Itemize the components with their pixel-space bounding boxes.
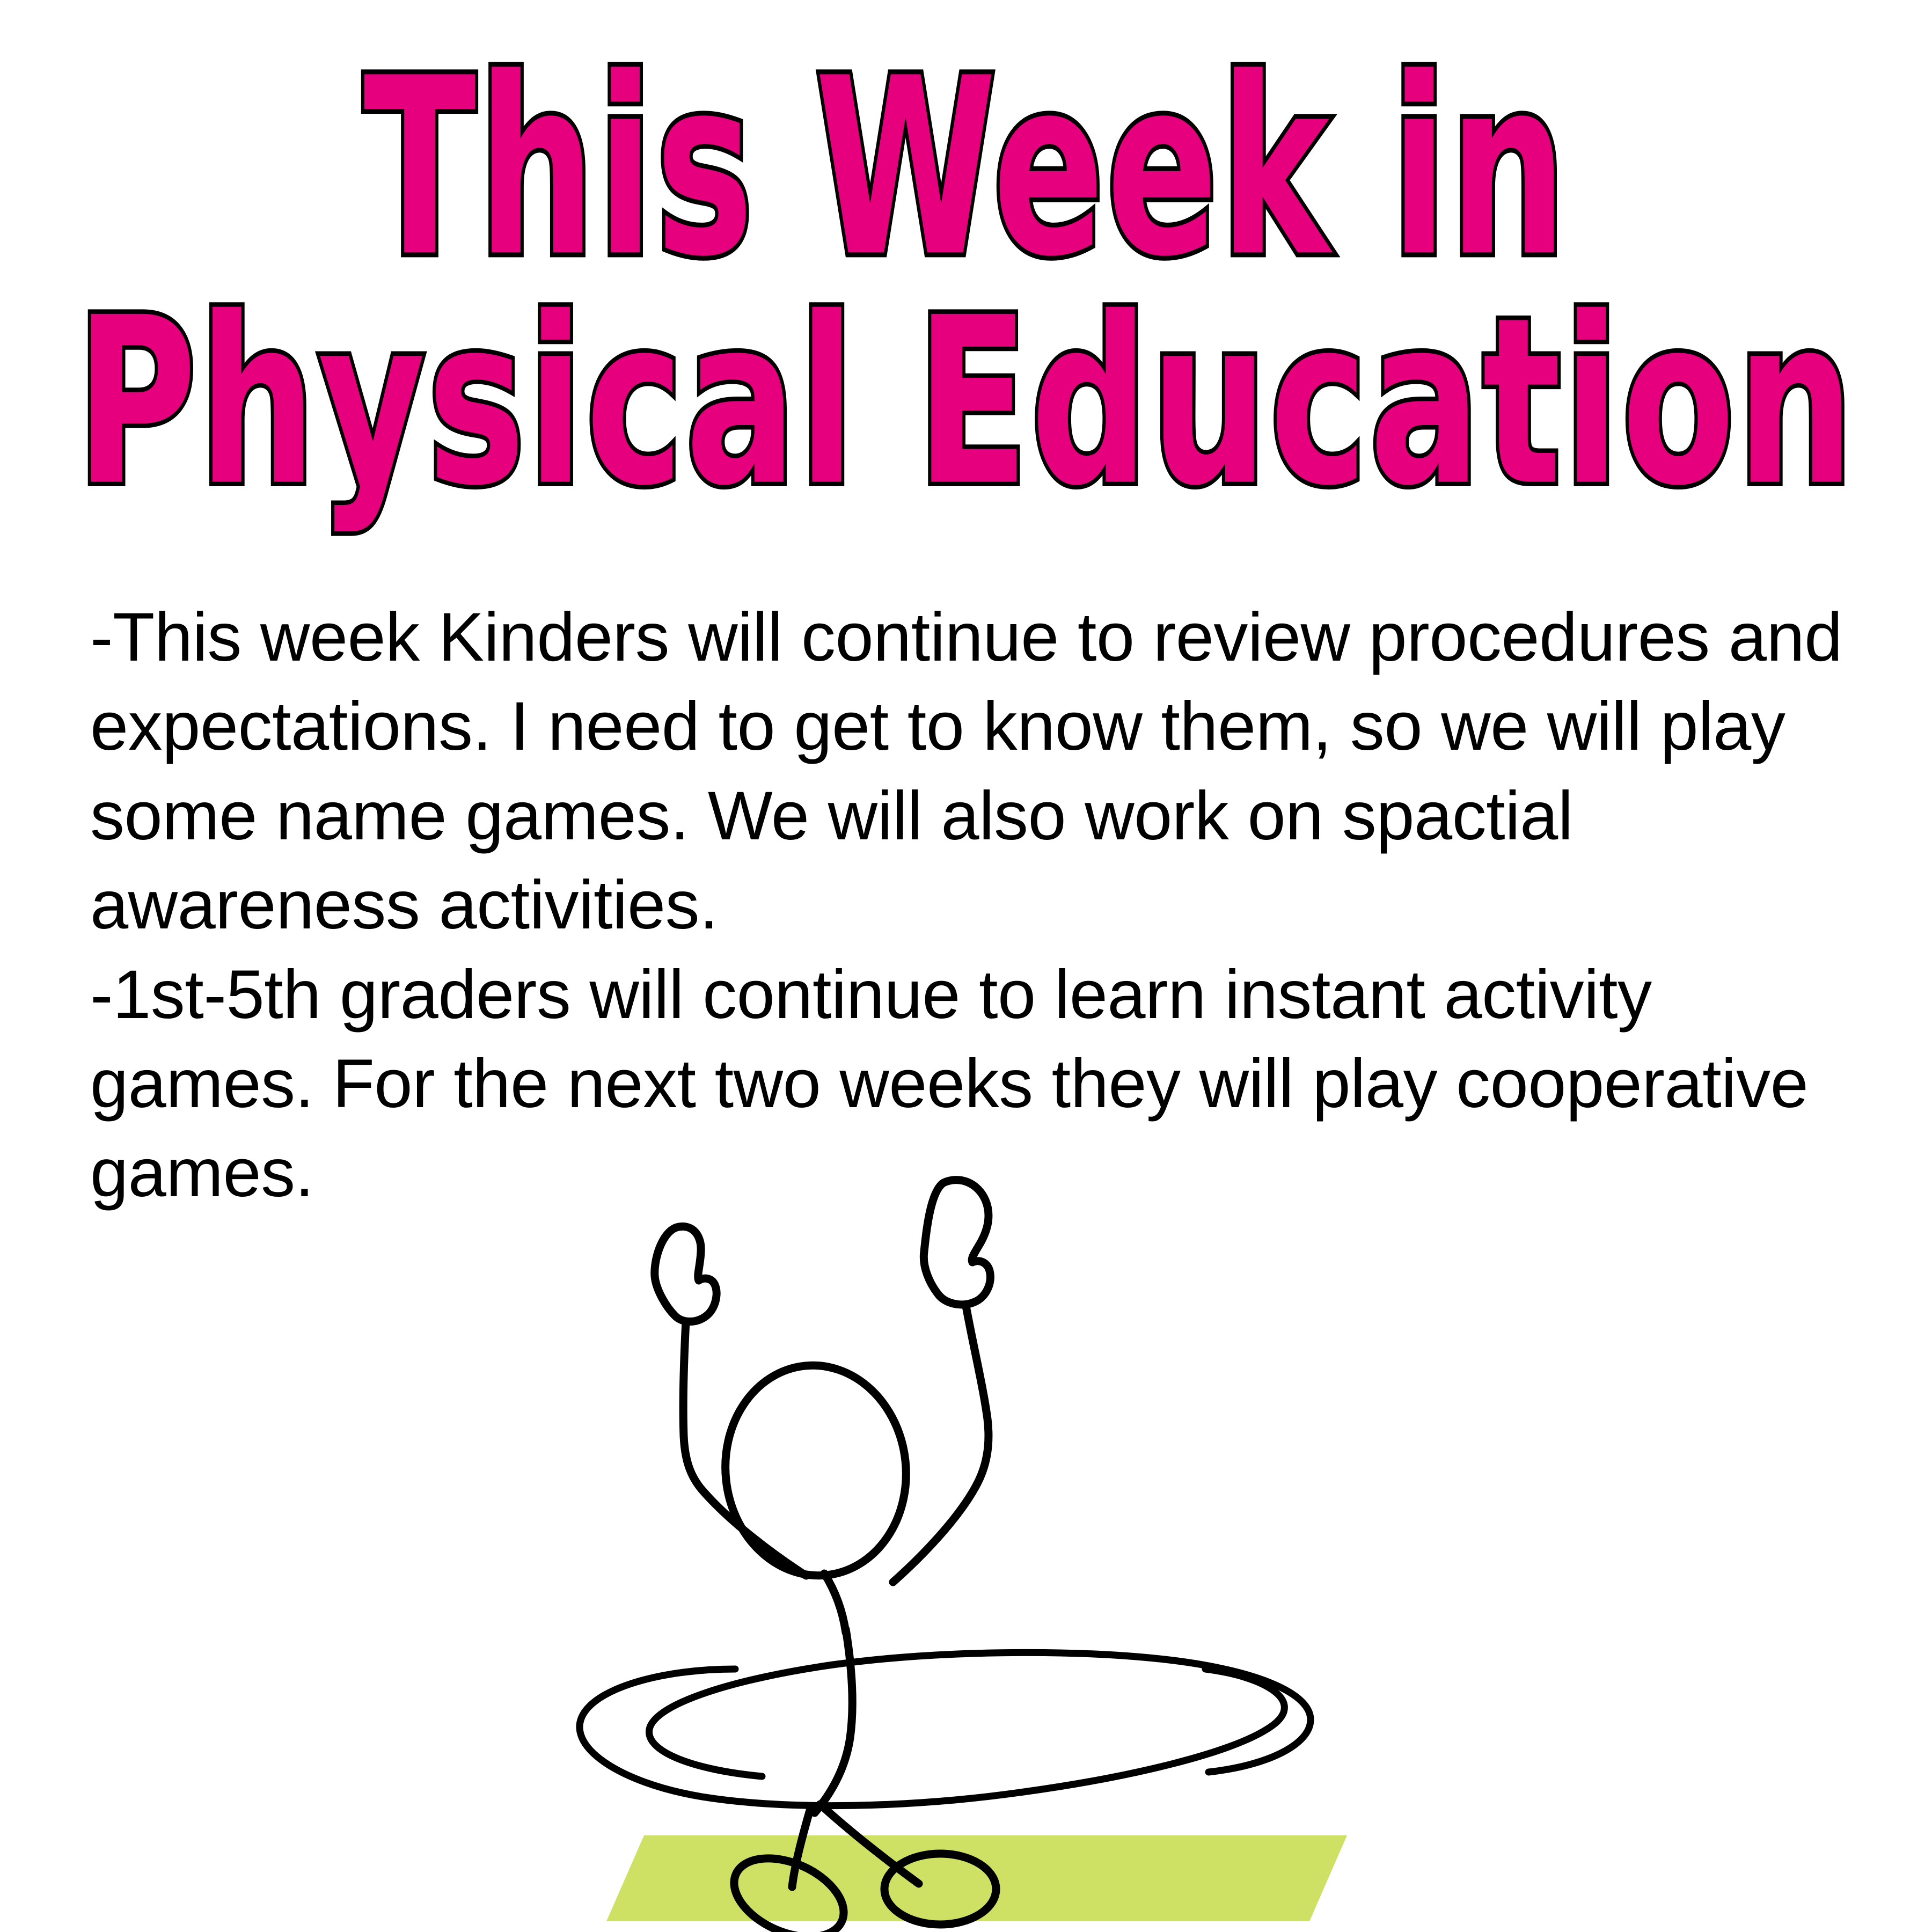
head xyxy=(715,1357,916,1585)
page-title: This Week in Physical Education xyxy=(0,51,1932,462)
stick-figure-svg xyxy=(558,1170,1395,1932)
torso xyxy=(815,1629,852,1813)
right-arm xyxy=(893,1306,989,1582)
left-fist-icon xyxy=(655,1226,716,1321)
title-line-1: This Week in xyxy=(68,51,1864,286)
ground-plane xyxy=(606,1835,1347,1921)
figure-strokes xyxy=(580,1180,1311,1932)
paragraph-kinders: -This week Kinders will continue to revi… xyxy=(90,593,1861,950)
right-fist-icon xyxy=(924,1180,990,1305)
announcement-text: -This week Kinders will continue to revi… xyxy=(90,593,1861,1218)
neck xyxy=(824,1574,846,1633)
hula-hoop-outer xyxy=(580,1669,1284,1806)
stick-figure-illustration xyxy=(558,1170,1395,1932)
poster-page: This Week in Physical Education -This we… xyxy=(0,0,1932,1932)
title-line-2: Physical Education xyxy=(68,292,1864,513)
